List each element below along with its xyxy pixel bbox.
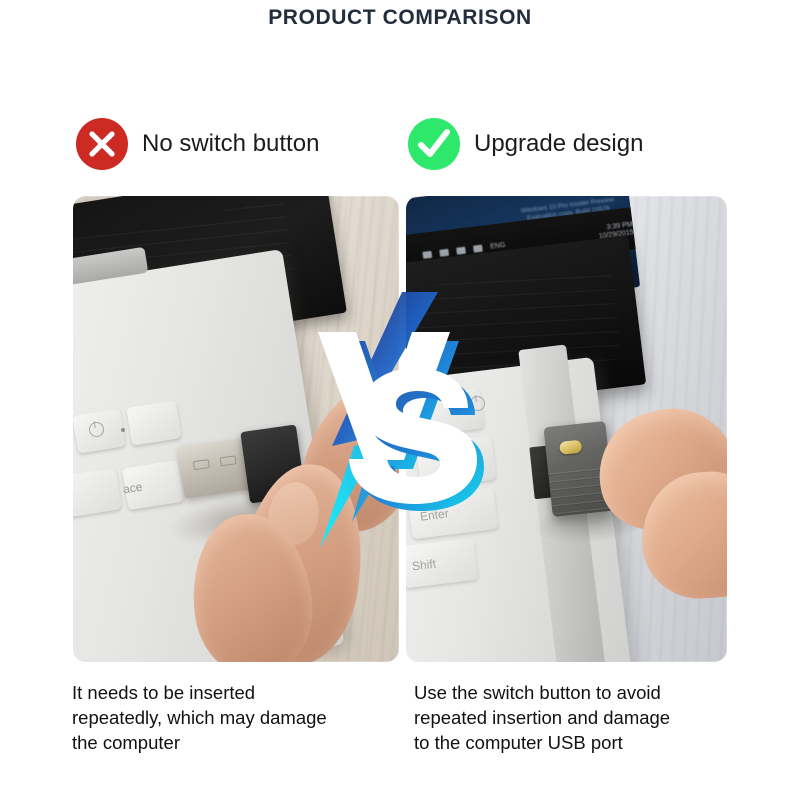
comparison-badge-positive: Upgrade design bbox=[408, 118, 643, 170]
action-center-icon bbox=[473, 244, 483, 252]
caption-left: It needs to be inserted repeatedly, whic… bbox=[72, 680, 402, 755]
cross-icon bbox=[76, 118, 128, 170]
volume-icon bbox=[456, 246, 466, 254]
keyboard-key-label-shift: Shift bbox=[411, 557, 437, 574]
status-led bbox=[121, 428, 125, 432]
comparison-badge-negative: No switch button bbox=[76, 118, 319, 170]
badge-label-negative: No switch button bbox=[142, 130, 319, 158]
comparison-panels: ace Windows 10 Pro Insider Preview Evalu… bbox=[0, 196, 800, 664]
product-photo-right: Windows 10 Pro Insider Preview Evaluatio… bbox=[406, 196, 727, 662]
check-icon bbox=[408, 118, 460, 170]
badge-row: No switch button Upgrade design bbox=[0, 118, 800, 182]
keyboard-key bbox=[126, 400, 181, 445]
product-photo-left: ace bbox=[73, 196, 399, 662]
network-icon bbox=[439, 248, 449, 256]
badge-label-positive: Upgrade design bbox=[474, 130, 643, 158]
page-title: PRODUCT COMPARISON bbox=[0, 6, 800, 30]
caption-right: Use the switch button to avoid repeated … bbox=[414, 680, 744, 755]
switch-button bbox=[559, 440, 582, 455]
keyboard-key-label: ace bbox=[122, 480, 143, 497]
keyboard-key bbox=[416, 436, 497, 489]
chevron-up-icon bbox=[422, 250, 432, 258]
language-indicator: ENG bbox=[490, 241, 506, 250]
